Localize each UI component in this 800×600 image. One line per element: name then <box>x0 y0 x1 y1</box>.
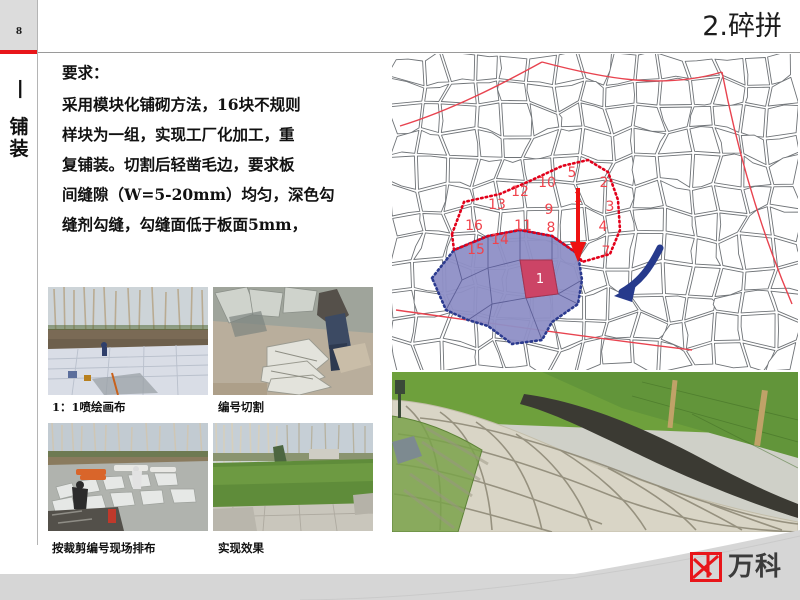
sidebar-section-char: 铺 <box>0 116 38 138</box>
photo-canvas-result <box>213 423 373 531</box>
page-title: 2.碎拼 <box>702 4 782 43</box>
sidebar-section-label: 一 铺装 <box>0 78 38 161</box>
sidebar: 8 一 铺装 <box>0 0 38 600</box>
module-number-16: 16 <box>465 218 483 234</box>
paving-stone <box>560 207 586 242</box>
vanke-logo-text: 万科 <box>728 554 782 580</box>
footer-swoosh <box>0 528 800 600</box>
paving-stone <box>664 234 694 264</box>
module-number-2: 2 <box>600 175 609 191</box>
module-number-4: 4 <box>599 219 608 235</box>
paving-stone <box>527 55 556 84</box>
sidebar-page-block <box>0 0 38 50</box>
paving-stone <box>766 105 798 137</box>
paving-stone <box>745 58 769 86</box>
header-rule <box>38 52 800 53</box>
paving-stone <box>636 81 659 105</box>
paving-stone <box>392 104 422 134</box>
footer-swoosh-svg <box>0 528 800 600</box>
photo-caption-1: 1：1喷绘画布 <box>52 399 126 415</box>
module-number-11: 11 <box>514 218 532 234</box>
requirements-line: 复铺装。切割后轻凿毛边，要求板 <box>62 150 380 180</box>
photo-canvas-cutting <box>213 287 373 395</box>
sidebar-section-index: 一 <box>8 70 30 108</box>
photo-thumb-3 <box>48 423 208 531</box>
requirements-line: 样块为一组，实现工厂化加工，重 <box>62 120 380 150</box>
photo-thumb-2 <box>213 287 373 395</box>
sidebar-section-char: 装 <box>0 138 38 160</box>
requirements-line: 缝剂勾缝，勾缝面低于板面5mm， <box>62 210 380 240</box>
vanke-logo: 万科 <box>690 550 782 584</box>
photo-canvas-big-path <box>392 372 798 532</box>
paving-stone <box>633 208 663 231</box>
paving-stone <box>740 235 774 269</box>
module-number-9: 9 <box>545 202 554 218</box>
module-number-14: 14 <box>491 232 509 248</box>
requirements-lead: 要求： <box>62 58 380 88</box>
highlight-module-number: 1 <box>536 272 544 287</box>
paving-stone <box>477 81 499 104</box>
requirements-text: 要求： 采用模块化铺砌方法，16块不规则样块为一组，实现工厂化加工，重复铺装。切… <box>62 58 380 240</box>
module-number-15: 15 <box>467 242 485 258</box>
photo-caption-2: 编号切割 <box>218 399 264 415</box>
requirements-lines: 采用模块化铺砌方法，16块不规则样块为一组，实现工厂化加工，重复铺装。切割后轻凿… <box>62 90 380 240</box>
module-number-12: 12 <box>511 184 529 200</box>
module-number-8: 8 <box>547 220 556 236</box>
paving-stone <box>477 55 498 80</box>
paving-stone <box>690 106 713 126</box>
crazy-paving-module-diagram: 1 1234578910111213141516 <box>392 54 798 370</box>
module-number-3: 3 <box>606 199 615 215</box>
paving-stone <box>660 78 692 105</box>
requirements-line: 间缝隙（W=5-20mm）均匀，深色勾 <box>62 180 380 210</box>
paving-stone <box>695 213 718 241</box>
module-number-7: 7 <box>602 244 611 260</box>
paving-stone <box>714 313 740 341</box>
page-number: 8 <box>0 27 38 37</box>
paving-stone <box>741 105 765 137</box>
paving-stone <box>392 263 412 291</box>
paving-stone <box>746 87 770 106</box>
requirements-line: 采用模块化铺砌方法，16块不规则 <box>62 90 380 120</box>
paving-stone <box>392 290 415 318</box>
slide-canvas: 8 一 铺装 2.碎拼 要求： 采用模块化铺砌方法，16块不规则样块为一组，实现… <box>0 0 800 600</box>
paving-stone <box>502 103 532 136</box>
module-number-5: 5 <box>568 165 577 181</box>
module-number-13: 13 <box>488 197 506 213</box>
diagram-svg: 1 1234578910111213141516 <box>392 54 798 370</box>
photo-thumb-1 <box>48 287 208 395</box>
paving-stone <box>636 54 659 80</box>
photo-thumb-4 <box>213 423 373 531</box>
module-number-10: 10 <box>538 175 556 191</box>
vanke-logo-mark <box>690 552 722 582</box>
photo-canvas-arranging <box>48 423 208 531</box>
sidebar-section-text: 铺装 <box>0 116 38 161</box>
photo-canvas-laying <box>48 287 208 395</box>
big-result-photo <box>392 372 798 532</box>
sidebar-accent-bar <box>0 50 38 54</box>
